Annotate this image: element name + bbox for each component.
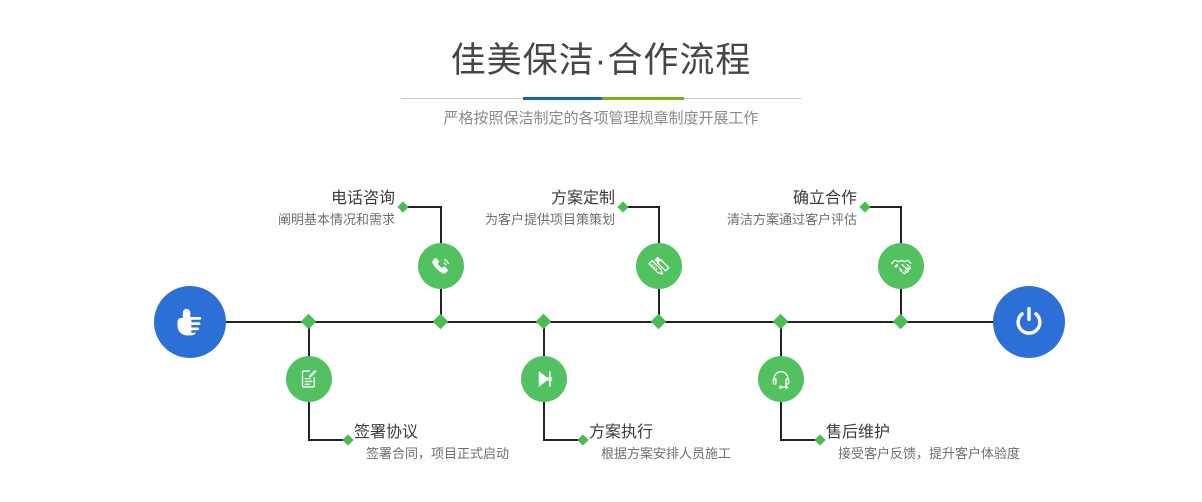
play-execute-icon: [531, 366, 557, 392]
pencil-ruler-icon: [646, 253, 672, 279]
connector-horizontal-step-6: [780, 439, 818, 441]
label-diamond-step-5: [859, 201, 870, 212]
connector-horizontal-step-4: [543, 439, 581, 441]
step-label-1: 电话咨询 阐明基本情况和需求: [150, 188, 395, 230]
step-desc-4: 根据方案安排人员施工: [589, 444, 839, 464]
step-node-4[interactable]: [521, 356, 567, 402]
connector-horizontal-step-3: [624, 206, 660, 208]
step-label-5: 确立合作 清洁方案通过客户评估: [612, 188, 857, 230]
axis-diamond-step-2: [301, 314, 317, 330]
step-desc-1: 阐明基本情况和需求: [150, 210, 395, 230]
document-sign-icon: [296, 366, 322, 392]
process-timeline: 电话咨询 阐明基本情况和需求 签署协议 签署合同，项目正式启动: [0, 0, 1202, 502]
axis-diamond-step-6: [773, 314, 789, 330]
step-node-2[interactable]: [286, 356, 332, 402]
step-desc-3: 为客户提供项目策策划: [370, 210, 615, 230]
axis-diamond-step-5: [893, 314, 909, 330]
step-label-6: 售后维护 接受客户反馈，提升客户体验度: [826, 422, 1086, 464]
axis-diamond-step-1: [433, 314, 449, 330]
step-desc-2: 签署合同，项目正式启动: [354, 444, 604, 464]
step-node-3[interactable]: [636, 243, 682, 289]
step-node-5[interactable]: [878, 243, 924, 289]
step-desc-5: 清洁方案通过客户评估: [612, 210, 857, 230]
cooperation-process-infographic: 佳美保洁·合作流程 严格按照保洁制定的各项管理规章制度开展工作: [0, 0, 1202, 502]
connector-horizontal-step-2: [308, 439, 346, 441]
step-node-6[interactable]: [758, 356, 804, 402]
power-icon: [1008, 301, 1050, 343]
handshake-icon: [888, 253, 915, 280]
step-label-4: 方案执行 根据方案安排人员施工: [589, 422, 839, 464]
pointing-hand-icon: [170, 302, 210, 342]
timeline-end-endpoint: [993, 286, 1065, 358]
connector-horizontal-step-1: [404, 206, 442, 208]
step-title-6: 售后维护: [826, 422, 1086, 444]
step-label-2: 签署协议 签署合同，项目正式启动: [354, 422, 604, 464]
step-node-1[interactable]: [418, 243, 464, 289]
label-diamond-step-2: [342, 434, 353, 445]
customer-service-icon: [768, 366, 794, 392]
step-title-1: 电话咨询: [150, 188, 395, 210]
step-label-3: 方案定制 为客户提供项目策策划: [370, 188, 615, 230]
step-desc-6: 接受客户反馈，提升客户体验度: [826, 444, 1086, 464]
axis-diamond-step-3: [651, 314, 667, 330]
timeline-start-endpoint: [154, 286, 226, 358]
axis-diamond-step-4: [536, 314, 552, 330]
connector-horizontal-step-5: [866, 206, 902, 208]
phone-call-icon: [428, 253, 454, 279]
